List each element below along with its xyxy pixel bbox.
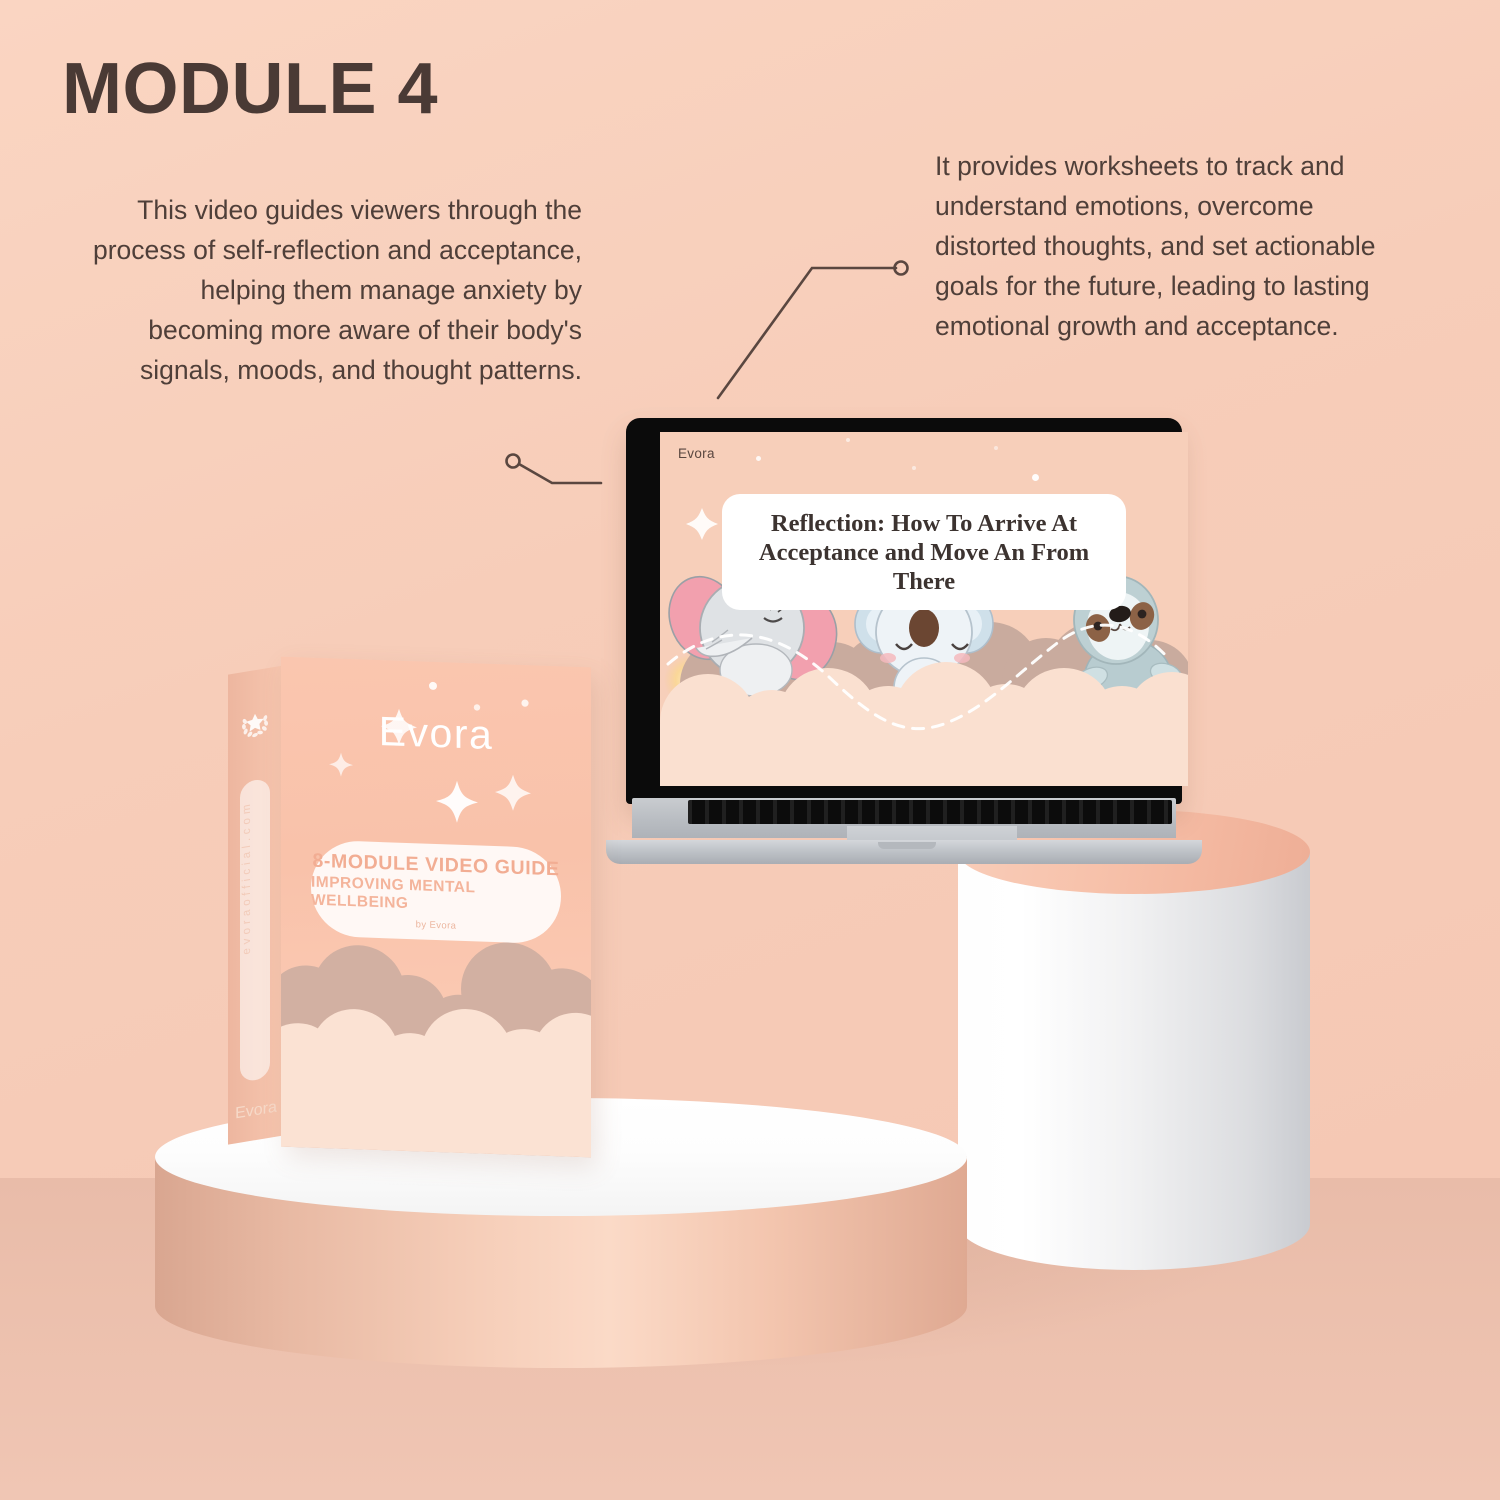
connector-left-line [519,464,601,483]
connector-right-line [718,268,896,398]
product-box-spine-brand: Evora [228,1097,284,1124]
product-box-label-line-3: by Evora [416,919,457,931]
product-box-label-line-2: IMPROVING MENTAL WELLBEING [311,873,561,918]
laptop-keys [688,800,1172,824]
laptop-keyboard-deck [632,798,1176,838]
product-box-spine: evoraofficial.com Evora [228,665,284,1144]
laptop-base [606,798,1202,870]
laptop-screen: Evora [660,432,1188,786]
product-box: evoraofficial.com Evora Evora 8-MODULE V [228,650,618,1162]
connector-left-endpoint [507,455,520,468]
product-box-front: Evora 8-MODULE VIDEO GUIDE IMPROVING MEN… [281,657,591,1158]
slide-dashed-wave [660,432,1188,786]
product-box-label: 8-MODULE VIDEO GUIDE IMPROVING MENTAL WE… [311,840,561,945]
laptop-lid: Evora [626,418,1182,804]
product-box-spine-url: evoraofficial.com [241,732,253,1024]
slide-canvas: Evora [660,432,1188,786]
podium-back [958,810,1310,1310]
laptop-base-notch [878,842,936,849]
podium-back-body [958,852,1310,1270]
laptop-mockup: Evora [606,418,1202,870]
